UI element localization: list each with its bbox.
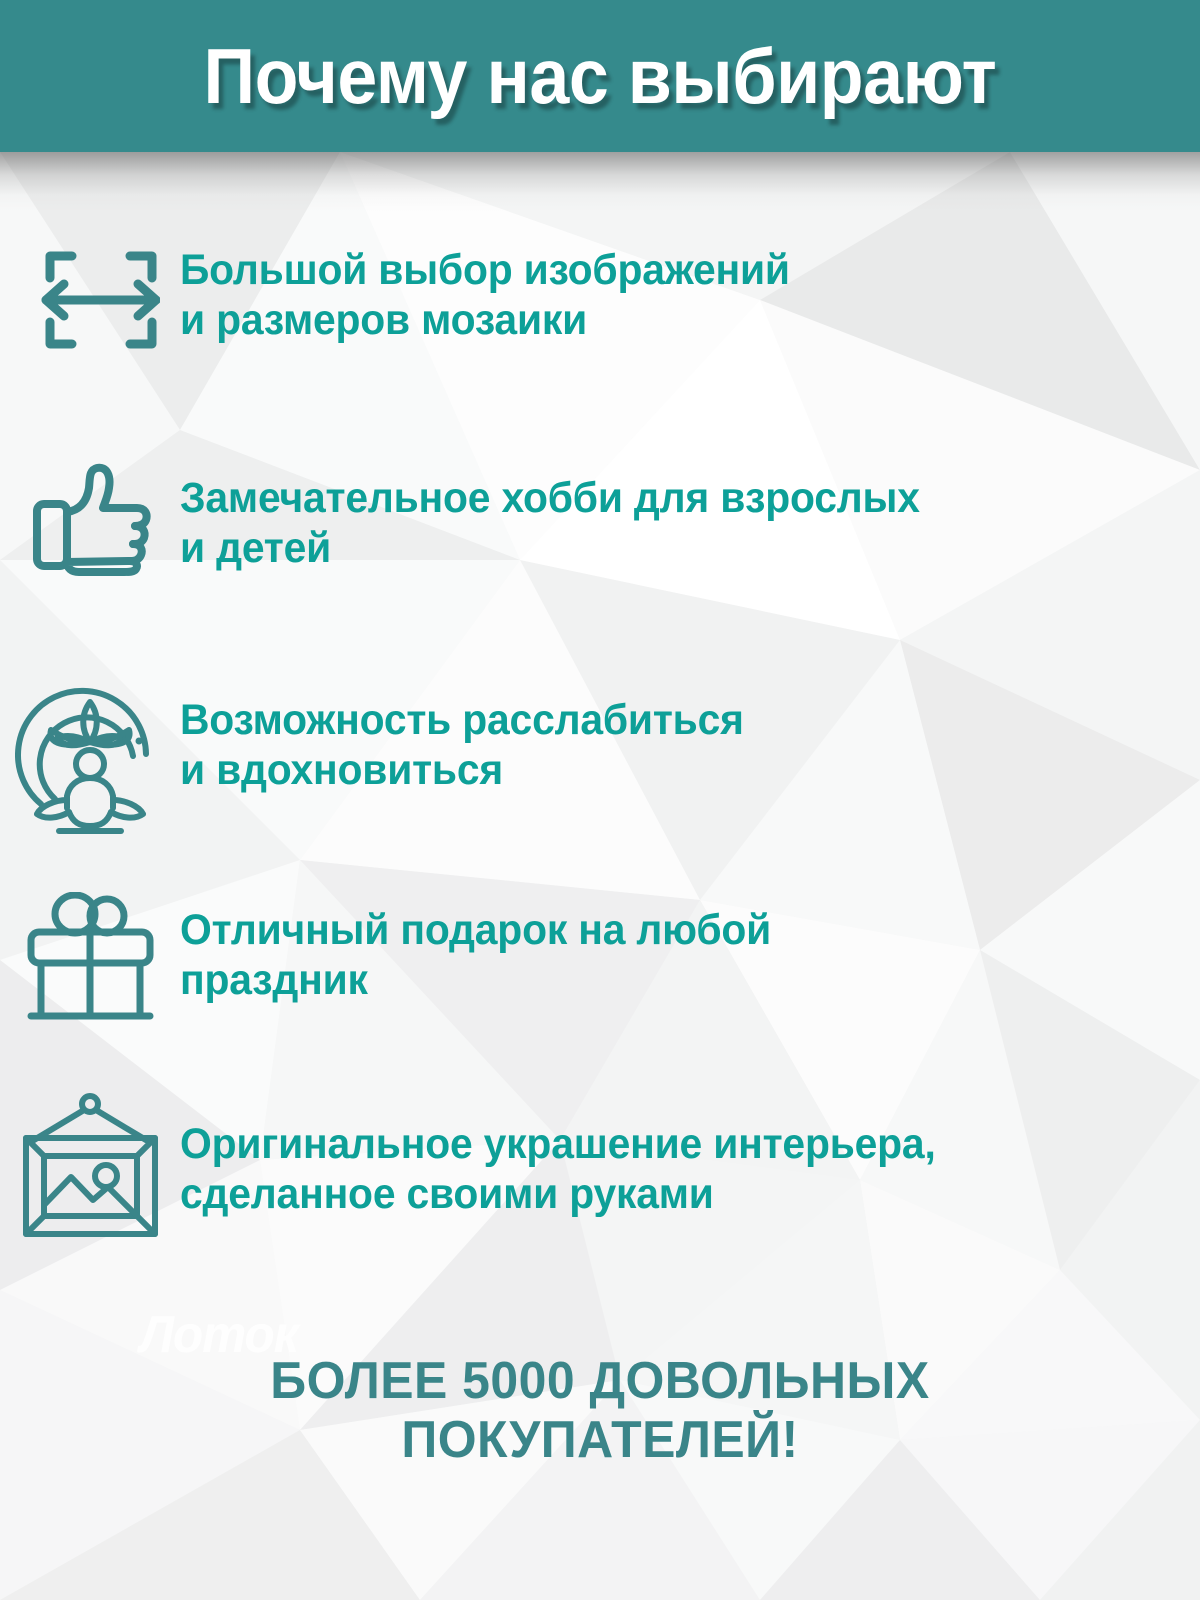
feature-line: праздник [180, 956, 1121, 1006]
footer-line-2: ПОКУПАТЕЛЕЙ! [24, 1411, 1176, 1470]
feature-line: и детей [180, 524, 1121, 574]
picture-frame-icon [0, 1092, 180, 1242]
feature-text: Большой выбор изображений и размеров моз… [180, 240, 1149, 346]
feature-line: Возможность расслабиться [180, 696, 1121, 746]
feature-line: Отличный подарок на любой [180, 906, 1121, 956]
page-title: Почему нас выбирают [204, 37, 997, 115]
feature-text: Возможность расслабиться и вдохновиться [180, 652, 1149, 796]
footer-line-1: БОЛЕЕ 5000 ДОВОЛЬНЫХ [24, 1352, 1176, 1411]
feature-line: Большой выбор изображений [180, 246, 1121, 296]
feature-line: Оригинальное украшение интерьера, [180, 1120, 1121, 1170]
feature-row: Замечательное хобби для взрослых и детей [0, 456, 1200, 576]
feature-text: Отличный подарок на любой праздник [180, 892, 1149, 1006]
feature-row: Оригинальное украшение интерьера, сделан… [0, 1092, 1200, 1242]
gift-box-icon [0, 892, 180, 1022]
feature-line: сделанное своими руками [180, 1170, 1121, 1220]
footer-headline: БОЛЕЕ 5000 ДОВОЛЬНЫХ ПОКУПАТЕЛЕЙ! [24, 1352, 1176, 1470]
infographic-page: Почему нас выбирают [0, 0, 1200, 1600]
lotus-meditation-icon [0, 652, 180, 837]
feature-row: Возможность расслабиться и вдохновиться [0, 652, 1200, 837]
feature-row: Большой выбор изображений и размеров моз… [0, 240, 1200, 360]
feature-line: и вдохновиться [180, 746, 1121, 796]
feature-text: Оригинальное украшение интерьера, сделан… [180, 1092, 1149, 1220]
feature-row: Отличный подарок на любой праздник [0, 892, 1200, 1022]
feature-line: и размеров мозаики [180, 296, 1121, 346]
feature-line: Замечательное хобби для взрослых [180, 474, 1121, 524]
feature-text: Замечательное хобби для взрослых и детей [180, 456, 1149, 574]
resize-frame-icon [0, 240, 180, 360]
header-bar: Почему нас выбирают [0, 0, 1200, 152]
thumbs-up-icon [0, 456, 180, 576]
